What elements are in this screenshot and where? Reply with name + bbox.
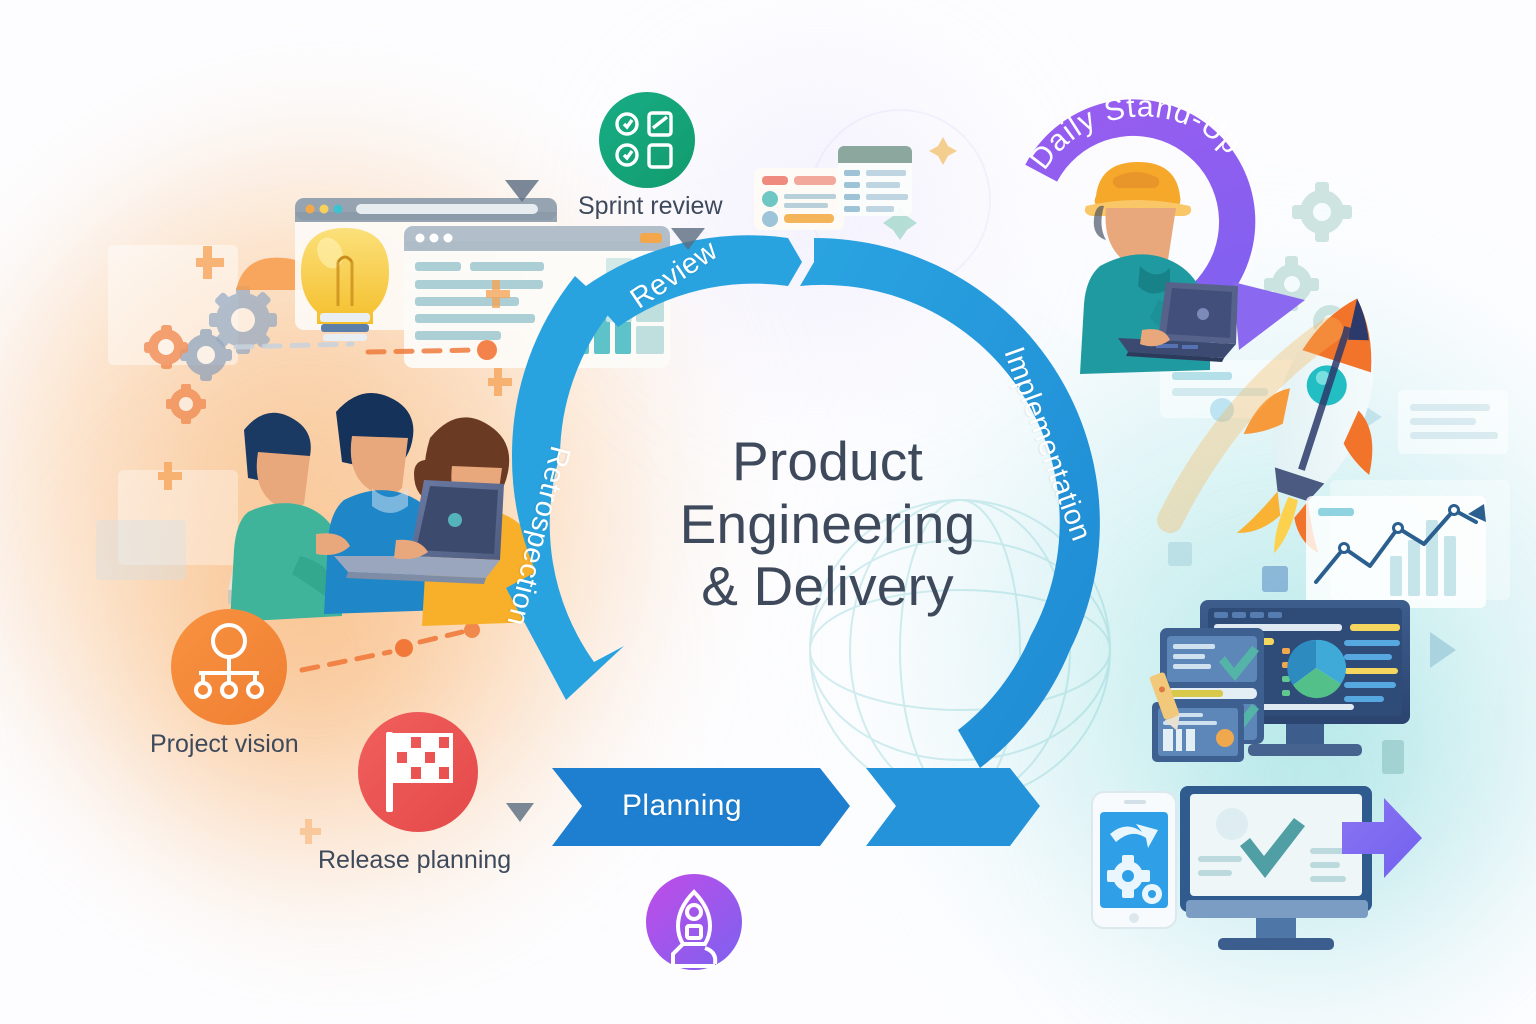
down-caret-release xyxy=(506,803,534,822)
callout-badges[interactable] xyxy=(0,0,1536,1024)
callout-badge-release-planning[interactable] xyxy=(358,712,478,832)
down-caret-sprint xyxy=(671,228,705,250)
callout-badge-project-vision[interactable] xyxy=(171,609,287,725)
callout-badge-launch[interactable] xyxy=(646,874,742,970)
infographic-canvas: Daily Stand-Up xyxy=(0,0,1536,1024)
down-caret-top xyxy=(505,180,539,202)
callout-badge-sprint-review[interactable] xyxy=(599,92,695,188)
